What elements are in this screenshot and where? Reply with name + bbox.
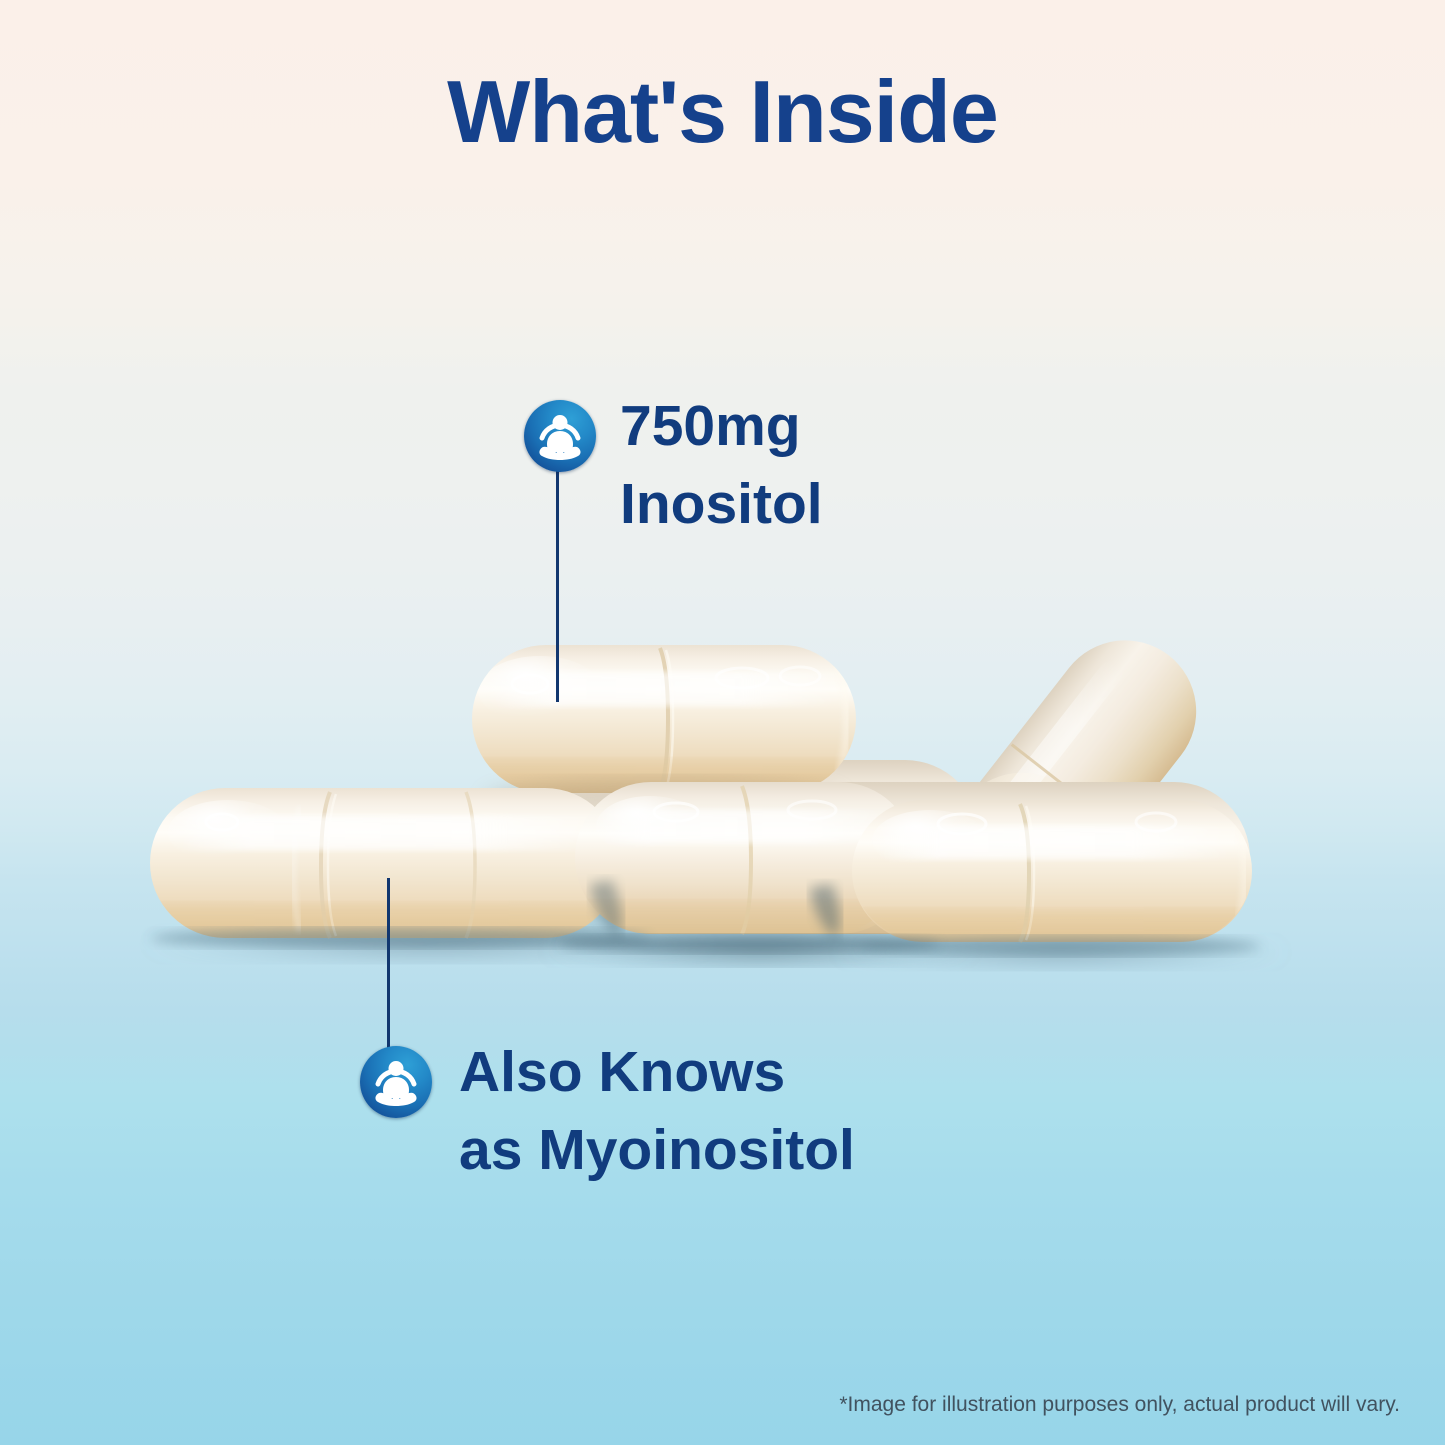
callout-leader-line <box>556 468 559 702</box>
callout-line-2: as Myoinositol <box>459 1122 855 1179</box>
callout-text: Also Knows as Myoinositol <box>459 1044 855 1179</box>
callout-line-1: 750mg <box>620 394 801 458</box>
callout-text: 750mg Inositol <box>620 398 823 533</box>
capsule-pile-image <box>0 0 1445 1445</box>
meditation-person-icon <box>524 400 596 472</box>
disclaimer-footnote: *Image for illustration purposes only, a… <box>839 1393 1400 1417</box>
meditation-person-icon <box>360 1046 432 1118</box>
callout-line-2: Inositol <box>620 476 823 533</box>
callout-leader-line <box>387 878 390 1050</box>
callout-line-1: Also Knows <box>459 1040 785 1104</box>
infographic-canvas: What's Inside <box>0 0 1445 1445</box>
